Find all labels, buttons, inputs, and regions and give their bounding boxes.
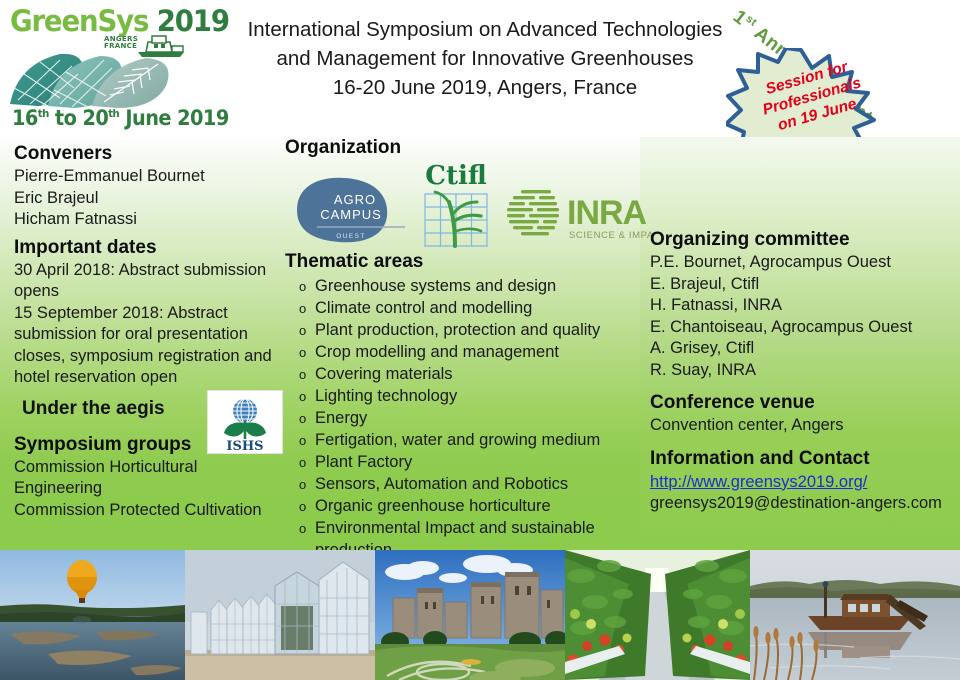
angers-castle-gardens-photo (375, 550, 565, 680)
svg-text:INRA: INRA (567, 194, 647, 232)
website-link[interactable]: http://www.greensys2019.org/ (650, 473, 867, 491)
logo-dates-end-sup: th (108, 107, 119, 120)
thematic-area-label: Organic greenhouse horticulture (315, 496, 645, 518)
list-item: oSensors, Automation and Robotics (285, 474, 645, 496)
middle-column: Organization AGRO CAMPUS OUEST Ctifl (285, 136, 645, 561)
page-title-line3: 16-20 June 2019, Angers, France (215, 73, 755, 102)
organizing-committee-heading: Organizing committee (650, 228, 955, 252)
photo-strip (0, 550, 960, 680)
information-contact-heading: Information and Contact (650, 447, 955, 471)
logo-dates: 16th to 20th June 2019 (12, 106, 229, 130)
svg-text:Ctifl: Ctifl (425, 161, 487, 191)
glass-greenhouse-exterior-photo (185, 550, 375, 680)
list-item: oGreenhouse systems and design (285, 276, 645, 298)
conference-venue-heading: Conference venue (650, 391, 955, 415)
svg-text:ISHS: ISHS (226, 439, 263, 453)
loire-traditional-boat-photo (750, 550, 960, 680)
important-dates-heading: Important dates (14, 236, 289, 260)
logo-dates-start-sup: th (38, 107, 49, 120)
important-date-entry: 15 September 2018: Abstract submission f… (14, 303, 289, 389)
organization-heading: Organization (285, 136, 645, 160)
list-item: oEnergy (285, 408, 645, 430)
svg-text:CAMPUS: CAMPUS (320, 207, 382, 222)
thematic-area-label: Fertigation, water and growing medium (315, 430, 645, 452)
bullet-icon: o (285, 496, 315, 518)
logo-leaves-graphic (8, 48, 188, 110)
logo-dates-end: June 2019 (119, 106, 229, 130)
under-the-aegis-heading: Under the aegis (22, 398, 165, 420)
thematic-areas-list: oGreenhouse systems and design oClimate … (285, 276, 645, 561)
thematic-area-label: Sensors, Automation and Robotics (315, 474, 645, 496)
thematic-area-label: Plant production, protection and quality (315, 320, 645, 342)
conveners-heading: Conveners (14, 142, 289, 166)
list-item: oPlant production, protection and qualit… (285, 320, 645, 342)
list-item: oLighting technology (285, 386, 645, 408)
committee-member: A. Grisey, Ctifl (650, 338, 955, 360)
thematic-area-label: Covering materials (315, 364, 645, 386)
under-the-aegis-row: Under the aegis ISHS (14, 394, 289, 428)
bullet-icon: o (285, 408, 315, 430)
bullet-icon: o (285, 474, 315, 496)
convener-name: Pierre-Emmanuel Bournet (14, 166, 289, 188)
svg-text:AGRO: AGRO (334, 192, 376, 207)
logo-dates-start: 16 (12, 106, 38, 130)
contact-email: greensys2019@destination-angers.com (650, 493, 955, 515)
bullet-icon: o (285, 298, 315, 320)
logo-wordmark-green: GreenSys (10, 4, 148, 38)
left-column: Conveners Pierre-Emmanuel Bournet Eric B… (14, 142, 289, 521)
thematic-area-label: Greenhouse systems and design (315, 276, 645, 298)
svg-text:SCIENCE & IMPACT: SCIENCE & IMPACT (569, 230, 653, 241)
bullet-icon: o (285, 342, 315, 364)
thematic-area-label: Energy (315, 408, 645, 430)
committee-member: H. Fatnassi, INRA (650, 295, 955, 317)
organization-logos: AGRO CAMPUS OUEST Ctifl (285, 162, 645, 250)
committee-member: R. Suay, INRA (650, 360, 955, 382)
page-title: International Symposium on Advanced Tech… (215, 15, 755, 102)
bullet-icon: o (285, 518, 315, 540)
tomato-greenhouse-rows-photo (565, 550, 750, 680)
logo-dates-mid: to 20 (49, 106, 109, 130)
committee-member: E. Chantoiseau, Agrocampus Ouest (650, 317, 955, 339)
thematic-areas-heading: Thematic areas (285, 250, 645, 274)
list-item: oCovering materials (285, 364, 645, 386)
bullet-icon: o (285, 364, 315, 386)
ishs-logo: ISHS (207, 390, 283, 454)
thematic-area-label: Lighting technology (315, 386, 645, 408)
greensys-logo: GreenSys 2019 ANGERS FRANCE (8, 2, 190, 136)
list-item: oClimate control and modelling (285, 298, 645, 320)
list-item: oCrop modelling and management (285, 342, 645, 364)
thematic-area-label: Crop modelling and management (315, 342, 645, 364)
conference-venue-value: Convention center, Angers (650, 415, 955, 437)
list-item: oOrganic greenhouse horticulture (285, 496, 645, 518)
page-title-line2: and Management for Innovative Greenhouse… (215, 44, 755, 73)
thematic-area-label: Climate control and modelling (315, 298, 645, 320)
symposium-group-item: Commission Horticultural Engineering (14, 457, 289, 500)
bullet-icon: o (285, 386, 315, 408)
inra-logo: INRA SCIENCE & IMPACT (503, 184, 653, 242)
thematic-area-label: Plant Factory (315, 452, 645, 474)
symposium-group-item: Commission Protected Cultivation (14, 500, 289, 522)
list-item: oPlant Factory (285, 452, 645, 474)
agrocampus-ouest-logo: AGRO CAMPUS OUEST (289, 172, 407, 248)
loire-river-hot-air-balloon-photo (0, 550, 185, 680)
page-title-line1: International Symposium on Advanced Tech… (215, 15, 755, 44)
ctifl-logo: Ctifl (415, 158, 497, 250)
svg-text:OUEST: OUEST (336, 233, 365, 240)
convener-name: Eric Brajeul (14, 188, 289, 210)
committee-member: E. Brajeul, Ctifl (650, 274, 955, 296)
bullet-icon: o (285, 276, 315, 298)
bullet-icon: o (285, 430, 315, 452)
important-date-entry: 30 April 2018: Abstract submission opens (14, 260, 289, 303)
right-column: Organizing committee P.E. Bournet, Agroc… (650, 228, 955, 514)
bullet-icon: o (285, 320, 315, 342)
bullet-icon: o (285, 452, 315, 474)
committee-member: P.E. Bournet, Agrocampus Ouest (650, 252, 955, 274)
convener-name: Hicham Fatnassi (14, 209, 289, 231)
list-item: oFertigation, water and growing medium (285, 430, 645, 452)
